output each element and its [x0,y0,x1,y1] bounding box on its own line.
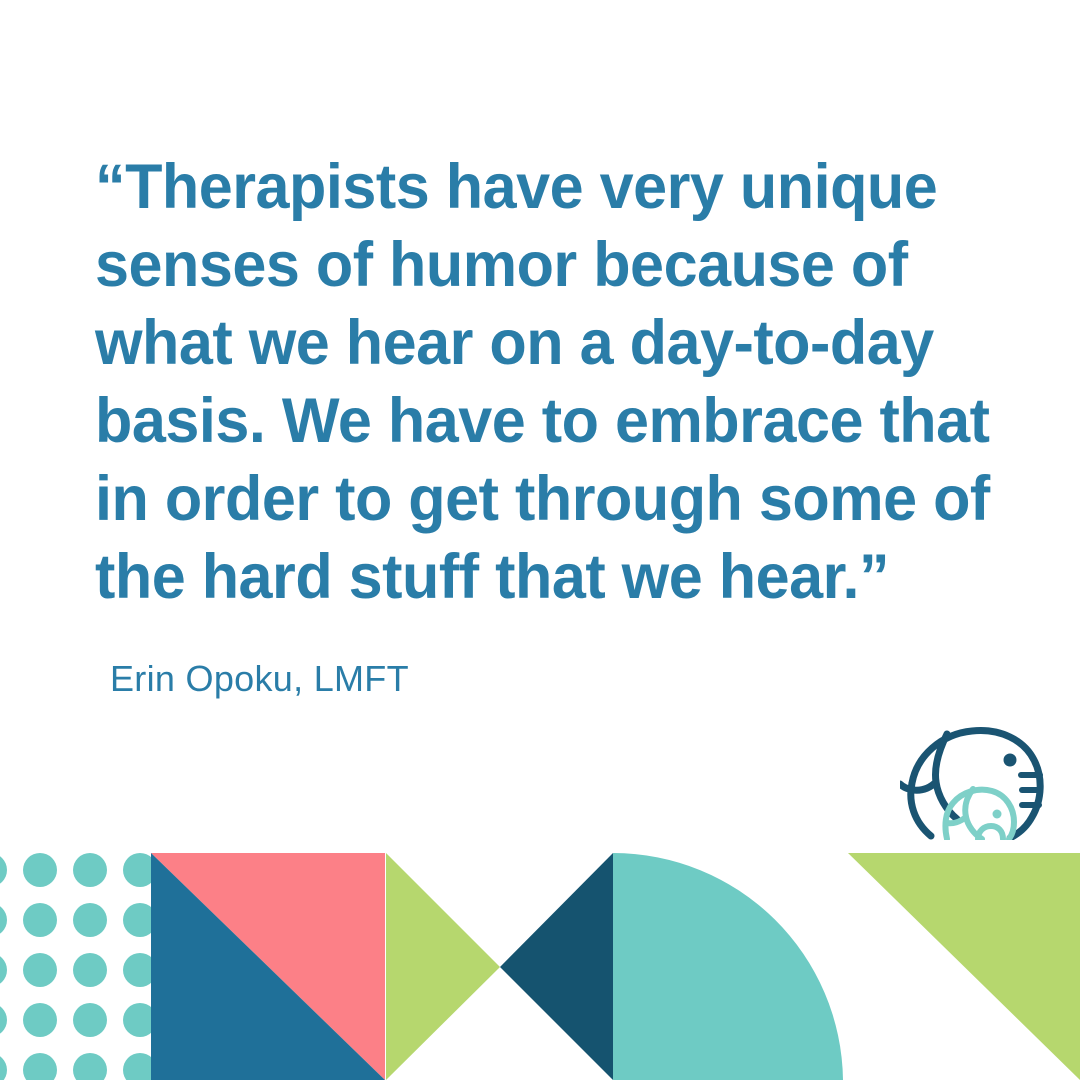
decorative-band [0,853,1080,1080]
quote-line-4: basis. We have to embrace that [95,382,987,460]
quote-line-6: the hard stuff that we hear.” [95,538,987,616]
navy-triangle-right [500,853,613,1080]
quote-line-5: in order to get through some of [95,460,987,538]
dot-grid [0,853,151,1080]
quote-block: “Therapists have very unique senses of h… [95,148,1015,616]
quote-line-3: what we hear on a day-to-day [95,304,987,382]
quote-line-2: senses of humor because of [95,226,987,304]
teal-quarter-circle [613,853,843,1080]
decorative-band-svg [0,853,1080,1080]
quote-line-1: “Therapists have very unique [95,148,987,226]
green-triangle-left [386,853,500,1080]
elephant-logo [900,718,1052,840]
quote-card: “Therapists have very unique senses of h… [0,0,1080,1080]
elephant-logo-icon [900,718,1052,840]
quote-attribution: Erin Opoku, LMFT [110,655,409,703]
green-triangle-corner [848,853,1080,1080]
